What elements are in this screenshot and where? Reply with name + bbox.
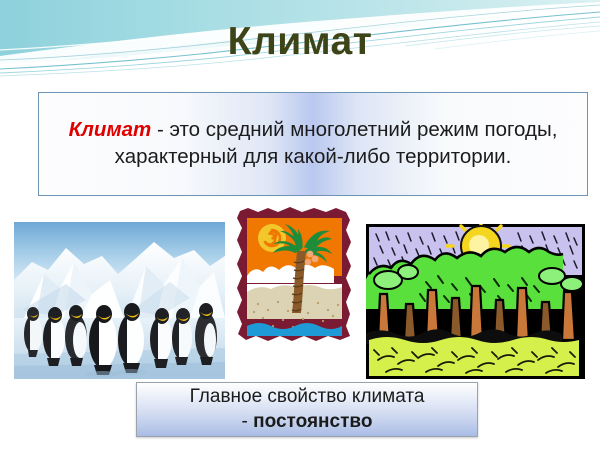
caption-box: Главное свойство климата - постоянство bbox=[136, 382, 478, 437]
slide: Климат Климат - это средний многолетний … bbox=[0, 0, 600, 450]
caption-text: Главное свойство климата - постоянство bbox=[137, 385, 477, 434]
caption-line-1: Главное свойство климата bbox=[190, 386, 425, 407]
image-penguins-on-ice bbox=[14, 222, 225, 379]
definition-box: Климат - это средний многолетний режим п… bbox=[38, 92, 588, 196]
definition-term: Климат bbox=[69, 118, 152, 141]
image-tropical-palm bbox=[234, 206, 355, 343]
caption-line-2-prefix: - bbox=[242, 411, 254, 432]
definition-body: это средний многолетний режим погоды, ха… bbox=[115, 118, 558, 168]
caption-line-2-strong: постоянство bbox=[253, 411, 372, 432]
image-jungle-forest bbox=[366, 224, 585, 379]
page-title: Климат bbox=[0, 22, 600, 63]
definition-text: Климат - это средний многолетний режим п… bbox=[39, 117, 587, 170]
definition-separator: - bbox=[151, 118, 169, 141]
